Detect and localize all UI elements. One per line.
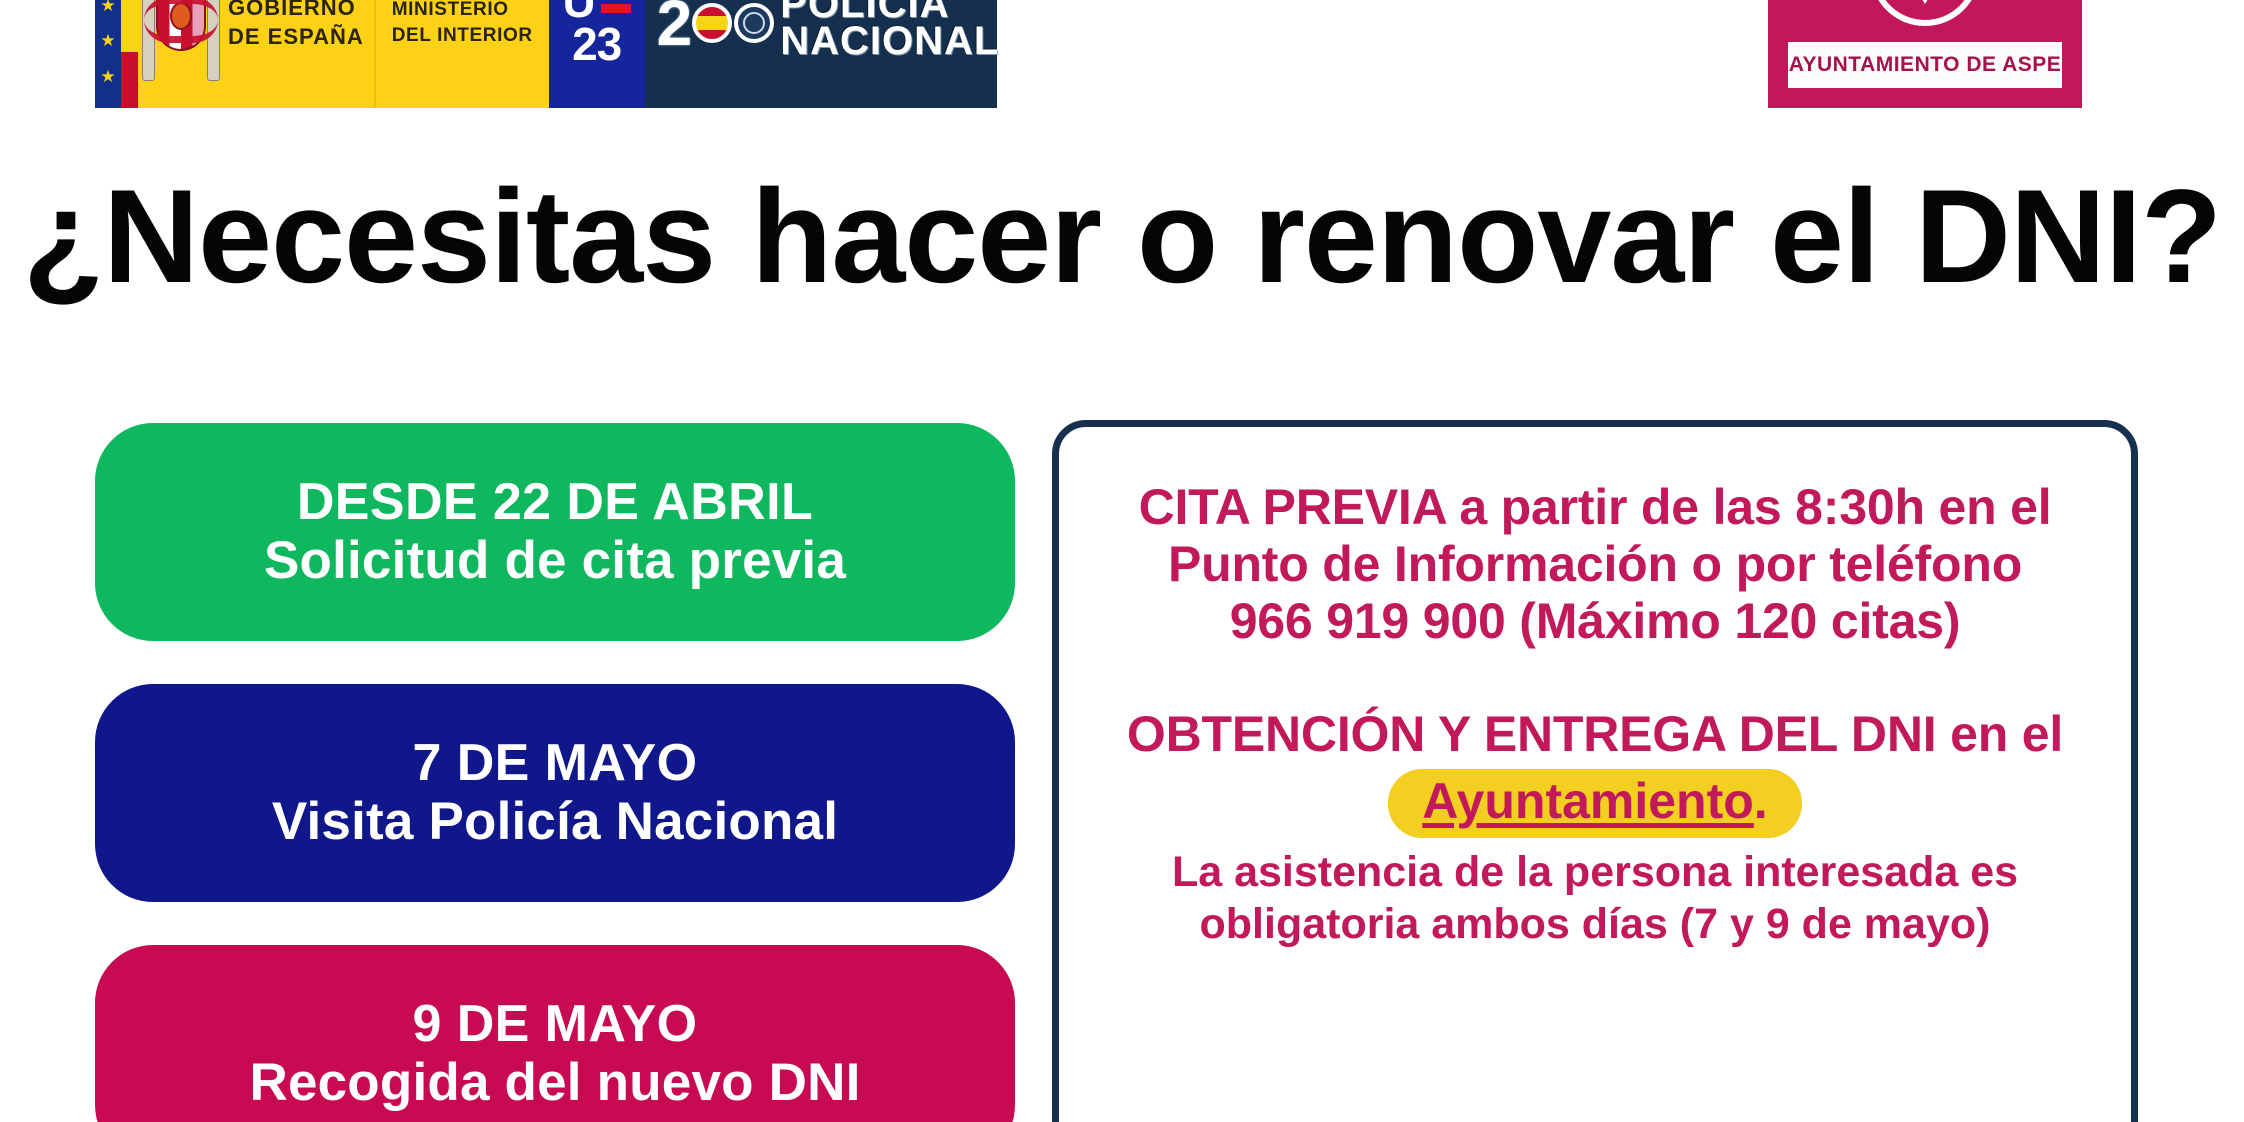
info-panel: CITA PREVIA a partir de las 8:30h en el … [1052,420,2138,1122]
spain-coat-of-arms-icon [142,0,220,83]
step-date: 7 DE MAYO [413,734,698,792]
aspe-emblem-icon [1870,0,1980,26]
policia-nacional-logo: 2 POLICÍA NACIONAL [645,0,997,108]
eu-stars-bar: ★ ★ ★ ★ [95,0,121,108]
ayuntamiento-word: Ayuntamiento [1422,773,1754,829]
gobierno-text: GOBIERNO DE ESPAÑA [228,0,364,52]
policia-name-line-2: NACIONAL [780,23,999,60]
step-pill-recogida-dni: 9 DE MAYO Recogida del nuevo DNI [95,945,1015,1122]
ministerio-interior-block: MINISTERIO DEL INTERIOR [376,0,549,108]
policia-200-anniversary-icon: 2 [657,0,775,55]
eu-presidency-year: 23 [572,24,621,65]
spain-roundel-icon [692,3,732,43]
step-pill-cita-previa: DESDE 22 DE ABRIL Solicitud de cita prev… [95,423,1015,641]
spain-flag-bars-icon [601,0,631,13]
poster-canvas: ★ ★ ★ ★ GOBIERNO DE ESPAÑA [0,0,2244,1122]
eu-presidency-2023-logo: U 23 [549,0,645,108]
step-action: Visita Policía Nacional [272,792,838,852]
step-action: Recogida del nuevo DNI [249,1053,860,1113]
ayuntamiento-highlight: Ayuntamiento. [1388,769,1801,838]
page-title: ¿Necesitas hacer o renovar el DNI? [0,168,2244,308]
eu-star-icon: ★ [100,32,115,49]
obtencion-entrega-line: OBTENCIÓN Y ENTREGA DEL DNI en el [1093,706,2097,763]
gobierno-yellow-field: GOBIERNO DE ESPAÑA [138,0,374,108]
gobierno-line-2: DE ESPAÑA [228,23,364,52]
step-pill-visita-policia: 7 DE MAYO Visita Policía Nacional [95,684,1015,902]
aspe-label: AYUNTAMIENTO DE ASPE [1788,42,2062,88]
police-badge-roundel-icon [734,3,774,43]
cita-previa-line-1: CITA PREVIA a partir de las 8:30h en el [1093,479,2097,536]
gobierno-de-espana-logo: ★ ★ ★ ★ GOBIERNO DE ESPAÑA [95,0,549,108]
ayuntamiento-de-aspe-logo: AYUNTAMIENTO DE ASPE [1768,0,2082,108]
eu-star-icon: ★ [100,68,115,85]
ayuntamiento-highlight-wrap: Ayuntamiento. [1093,769,2097,838]
asistencia-note-line-1: La asistencia de la persona interesada e… [1093,846,2097,898]
cita-previa-line-3: 966 919 900 (Máximo 120 citas) [1093,593,2097,650]
step-action: Solicitud de cita previa [264,531,846,591]
panel-spacer [1093,650,2097,706]
cita-previa-line-2: Punto de Información o por teléfono [1093,536,2097,593]
gobierno-line-1: GOBIERNO [228,0,364,23]
eu-star-icon: ★ [100,0,115,14]
step-date: DESDE 22 DE ABRIL [297,473,813,531]
institutional-logo-strip: ★ ★ ★ ★ GOBIERNO DE ESPAÑA [95,0,997,108]
ministerio-line-1: MINISTERIO [392,0,533,23]
step-date: 9 DE MAYO [413,995,698,1053]
anniversary-digit: 2 [657,0,691,55]
spain-flag-strip-icon [121,0,138,108]
ayuntamiento-period: . [1754,773,1768,829]
ministerio-line-2: DEL INTERIOR [392,23,533,49]
asistencia-note-line-2: obligatoria ambos días (7 y 9 de mayo) [1093,898,2097,950]
